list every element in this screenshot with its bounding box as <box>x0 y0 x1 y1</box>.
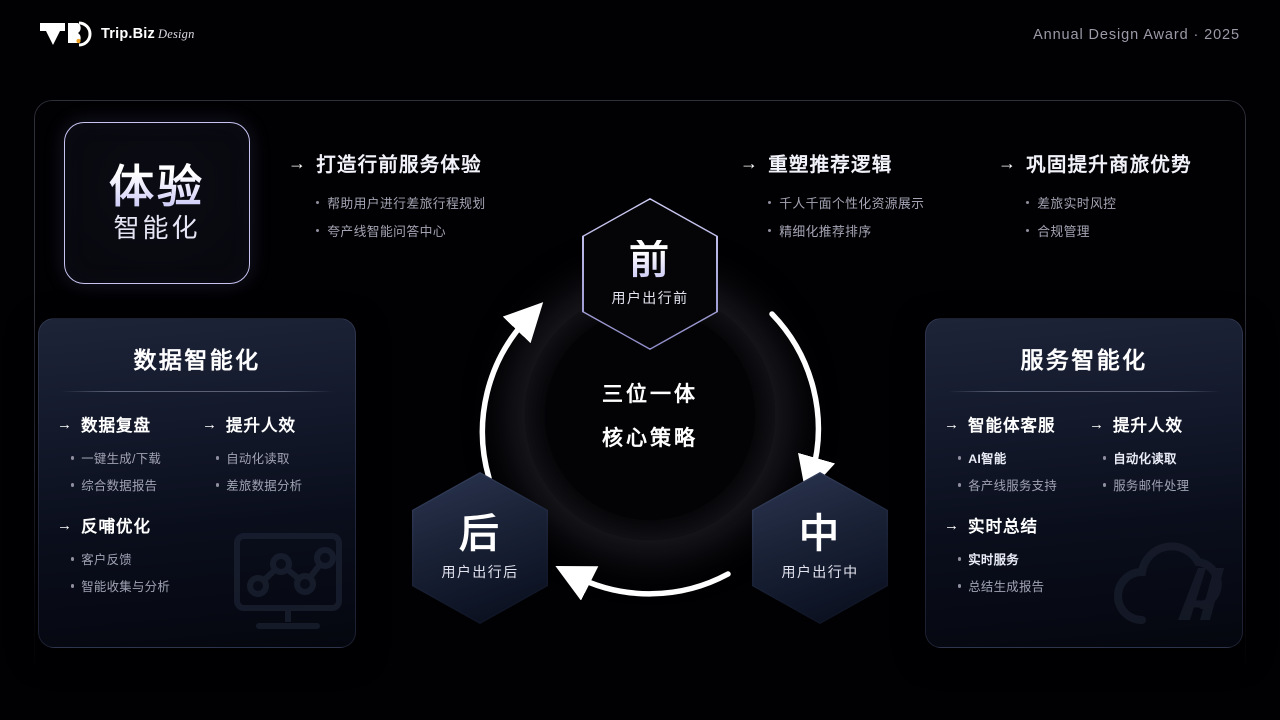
bullet-dot-icon <box>958 483 961 486</box>
bullet-dot-icon <box>216 456 219 459</box>
list-item: 合规管理 <box>1026 221 1192 240</box>
top-section-1-title: 打造行前服务体验 <box>316 148 482 177</box>
top-section-2-title: 重塑推荐逻辑 <box>768 148 892 177</box>
arrow-after-to-before <box>482 318 528 478</box>
top-section-2-heading: → 重塑推荐逻辑 <box>740 148 924 177</box>
data-intelligence-card-title: 数据智能化 <box>39 341 355 375</box>
arrow-right-icon: → <box>944 417 960 432</box>
top-section-3-title: 巩固提升商旅优势 <box>1026 148 1192 177</box>
list-item: 自动化读取 <box>216 449 337 467</box>
list-item: 智能收集与分析 <box>71 577 337 595</box>
bullet-dot-icon <box>71 584 74 587</box>
data-review-column: → 数据复盘 一键生成/下载 综合数据报告 <box>57 412 192 503</box>
experience-badge-title: 体验 <box>109 163 205 210</box>
service-intelligence-columns: → 智能体客服 AI智能 各产线服务支持 → 提升人效 自动化读取 服务邮件处理 <box>926 392 1242 503</box>
data-intelligence-card: 数据智能化 → 数据复盘 一键生成/下载 综合数据报告 → 提升人效 自 <box>38 318 356 648</box>
efficiency-column-right: → 提升人效 自动化读取 服务邮件处理 <box>1089 412 1224 503</box>
cycle-node-during-label: 中 <box>799 514 841 554</box>
arrow-before-to-during <box>772 314 818 474</box>
experience-badge-subtitle: 智能化 <box>113 214 200 243</box>
list-item: 总结生成报告 <box>958 577 1224 595</box>
data-intelligence-columns: → 数据复盘 一键生成/下载 综合数据报告 → 提升人效 自动化读取 差旅数据分… <box>39 392 355 503</box>
cycle-diagram: 三位一体 核心策略 前 用户出行前 后 用户出行后 <box>400 180 900 600</box>
list-item: 实时服务 <box>958 550 1224 568</box>
list-item: 差旅数据分析 <box>216 476 337 494</box>
realtime-summary-block: → 实时总结 实时服务 总结生成报告 <box>926 503 1242 595</box>
bullet-dot-icon <box>1026 201 1029 204</box>
service-intelligence-card: 服务智能化 → 智能体客服 AI智能 各产线服务支持 → 提升人效 自动 <box>925 318 1243 648</box>
bullet-dot-icon <box>216 483 219 486</box>
bullet-dot-icon <box>71 483 74 486</box>
arrow-right-icon: → <box>1089 417 1105 432</box>
realtime-summary-bullets: 实时服务 总结生成报告 <box>958 550 1224 595</box>
efficiency-column-left: → 提升人效 自动化读取 差旅数据分析 <box>202 412 337 503</box>
bullet-dot-icon <box>71 557 74 560</box>
tripbiz-logo-icon <box>38 20 92 48</box>
efficiency-bullets-right: 自动化读取 服务邮件处理 <box>1103 449 1224 494</box>
agent-service-column: → 智能体客服 AI智能 各产线服务支持 <box>944 412 1079 503</box>
efficiency-bullets-left: 自动化读取 差旅数据分析 <box>216 449 337 494</box>
list-item: 自动化读取 <box>1103 449 1224 467</box>
top-section-3: → 巩固提升商旅优势 差旅实时风控 合规管理 <box>998 148 1192 249</box>
bullet-dot-icon <box>1103 483 1106 486</box>
efficiency-heading-left: → 提升人效 <box>202 412 337 436</box>
arrow-during-to-after <box>575 574 728 594</box>
arrow-right-icon: → <box>944 518 960 533</box>
top-section-1-heading: → 打造行前服务体验 <box>288 148 486 177</box>
agent-service-heading: → 智能体客服 <box>944 412 1079 436</box>
agent-service-bullets: AI智能 各产线服务支持 <box>958 449 1079 494</box>
cycle-node-during-sublabel: 用户出行中 <box>782 562 859 582</box>
data-review-bullets: 一键生成/下载 综合数据报告 <box>71 449 192 494</box>
cycle-node-before-label: 前 <box>629 240 671 280</box>
cycle-node-after-label: 后 <box>459 514 501 554</box>
bullet-dot-icon <box>71 456 74 459</box>
list-item: 客户反馈 <box>71 550 337 568</box>
award-label: Annual Design Award · 2025 <box>1033 27 1240 43</box>
arrow-right-icon: → <box>288 154 307 172</box>
bullet-dot-icon <box>316 201 319 204</box>
arrow-right-icon: → <box>57 417 73 432</box>
bullet-dot-icon <box>1103 456 1106 459</box>
list-item: 差旅实时风控 <box>1026 193 1192 212</box>
list-item: 各产线服务支持 <box>958 476 1079 494</box>
brand-suffix: Design <box>158 27 195 41</box>
cycle-node-before-sublabel: 用户出行前 <box>612 288 689 308</box>
bullet-dot-icon <box>958 456 961 459</box>
bullet-dot-icon <box>958 557 961 560</box>
list-item: 一键生成/下载 <box>71 449 192 467</box>
feedback-optimization-block: → 反哺优化 客户反馈 智能收集与分析 <box>39 503 355 595</box>
bullet-dot-icon <box>958 584 961 587</box>
brand-logo: Trip.BizDesign <box>38 20 195 48</box>
top-section-3-heading: → 巩固提升商旅优势 <box>998 148 1192 177</box>
list-item: 综合数据报告 <box>71 476 192 494</box>
efficiency-heading-right: → 提升人效 <box>1089 412 1224 436</box>
arrow-right-icon: → <box>998 154 1017 172</box>
data-review-heading: → 数据复盘 <box>57 412 192 436</box>
slide-canvas: Trip.BizDesign Annual Design Award · 202… <box>0 0 1280 720</box>
experience-badge: 体验 智能化 <box>64 122 250 284</box>
feedback-optimization-bullets: 客户反馈 智能收集与分析 <box>71 550 337 595</box>
arrow-right-icon: → <box>740 154 759 172</box>
slide-header: Trip.BizDesign Annual Design Award · 202… <box>0 0 1280 70</box>
arrow-right-icon: → <box>202 417 218 432</box>
list-item: 服务邮件处理 <box>1103 476 1224 494</box>
cycle-node-after-sublabel: 用户出行后 <box>442 562 519 582</box>
bullet-dot-icon <box>1026 229 1029 232</box>
service-intelligence-card-title: 服务智能化 <box>926 341 1242 375</box>
realtime-summary-heading: → 实时总结 <box>944 513 1224 537</box>
top-section-3-bullets: 差旅实时风控 合规管理 <box>1026 193 1192 240</box>
list-item: AI智能 <box>958 449 1079 467</box>
brand-name: Trip.BizDesign <box>101 26 195 42</box>
arrow-right-icon: → <box>57 518 73 533</box>
feedback-optimization-heading: → 反哺优化 <box>57 513 337 537</box>
bullet-dot-icon <box>316 229 319 232</box>
